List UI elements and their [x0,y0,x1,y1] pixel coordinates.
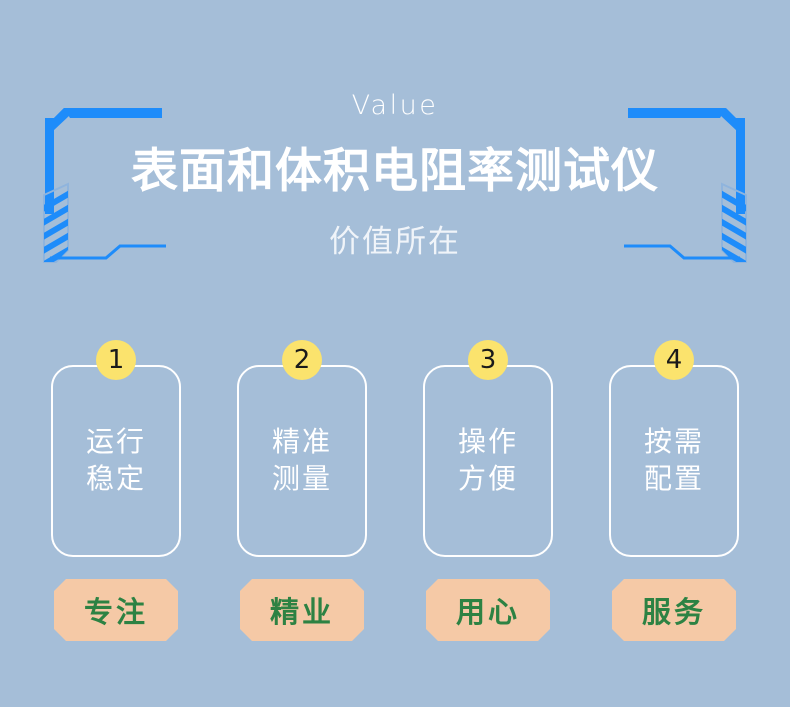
value-cards-row: 1 运行 稳定 专注 2 精准 测量 精业 3 操作 方便 用心 [0,340,790,680]
banner: Value 表面和体积电阻率测试仪 价值所在 [0,0,790,300]
card-shell: 1 运行 稳定 [51,365,181,557]
card-line-1: 操作 [458,424,518,461]
decorative-frame [0,0,790,300]
card-line-2: 方便 [458,461,518,498]
card-line-2: 配置 [644,461,704,498]
bracket-left-top-bar [64,108,162,118]
card-tag: 专注 [54,579,178,641]
card-number-badge: 1 [96,340,136,380]
card-tag: 精业 [240,579,364,641]
card-line-1: 按需 [644,424,704,461]
card-line-2: 测量 [272,461,332,498]
card-line-2: 稳定 [86,461,146,498]
card-number-badge: 3 [468,340,508,380]
bracket-left-striped-tab [34,184,82,284]
card-tag: 用心 [426,579,550,641]
card-box: 运行 稳定 [51,365,181,557]
bracket-right-vertical [736,118,745,214]
bracket-right-top-bar [628,108,726,118]
card-line-1: 运行 [86,424,146,461]
card-box: 按需 配置 [609,365,739,557]
value-card-1[interactable]: 1 运行 稳定 专注 [42,340,190,641]
value-card-2[interactable]: 2 精准 测量 精业 [228,340,376,641]
card-number-badge: 2 [282,340,322,380]
bracket-right-striped-tab [708,184,756,284]
bracket-left-vertical [45,118,54,214]
card-line-1: 精准 [272,424,332,461]
card-number-badge: 4 [654,340,694,380]
value-card-3[interactable]: 3 操作 方便 用心 [414,340,562,641]
card-shell: 3 操作 方便 [423,365,553,557]
card-tag: 服务 [612,579,736,641]
card-box: 精准 测量 [237,365,367,557]
card-box: 操作 方便 [423,365,553,557]
card-shell: 2 精准 测量 [237,365,367,557]
value-card-4[interactable]: 4 按需 配置 服务 [600,340,748,641]
card-shell: 4 按需 配置 [609,365,739,557]
